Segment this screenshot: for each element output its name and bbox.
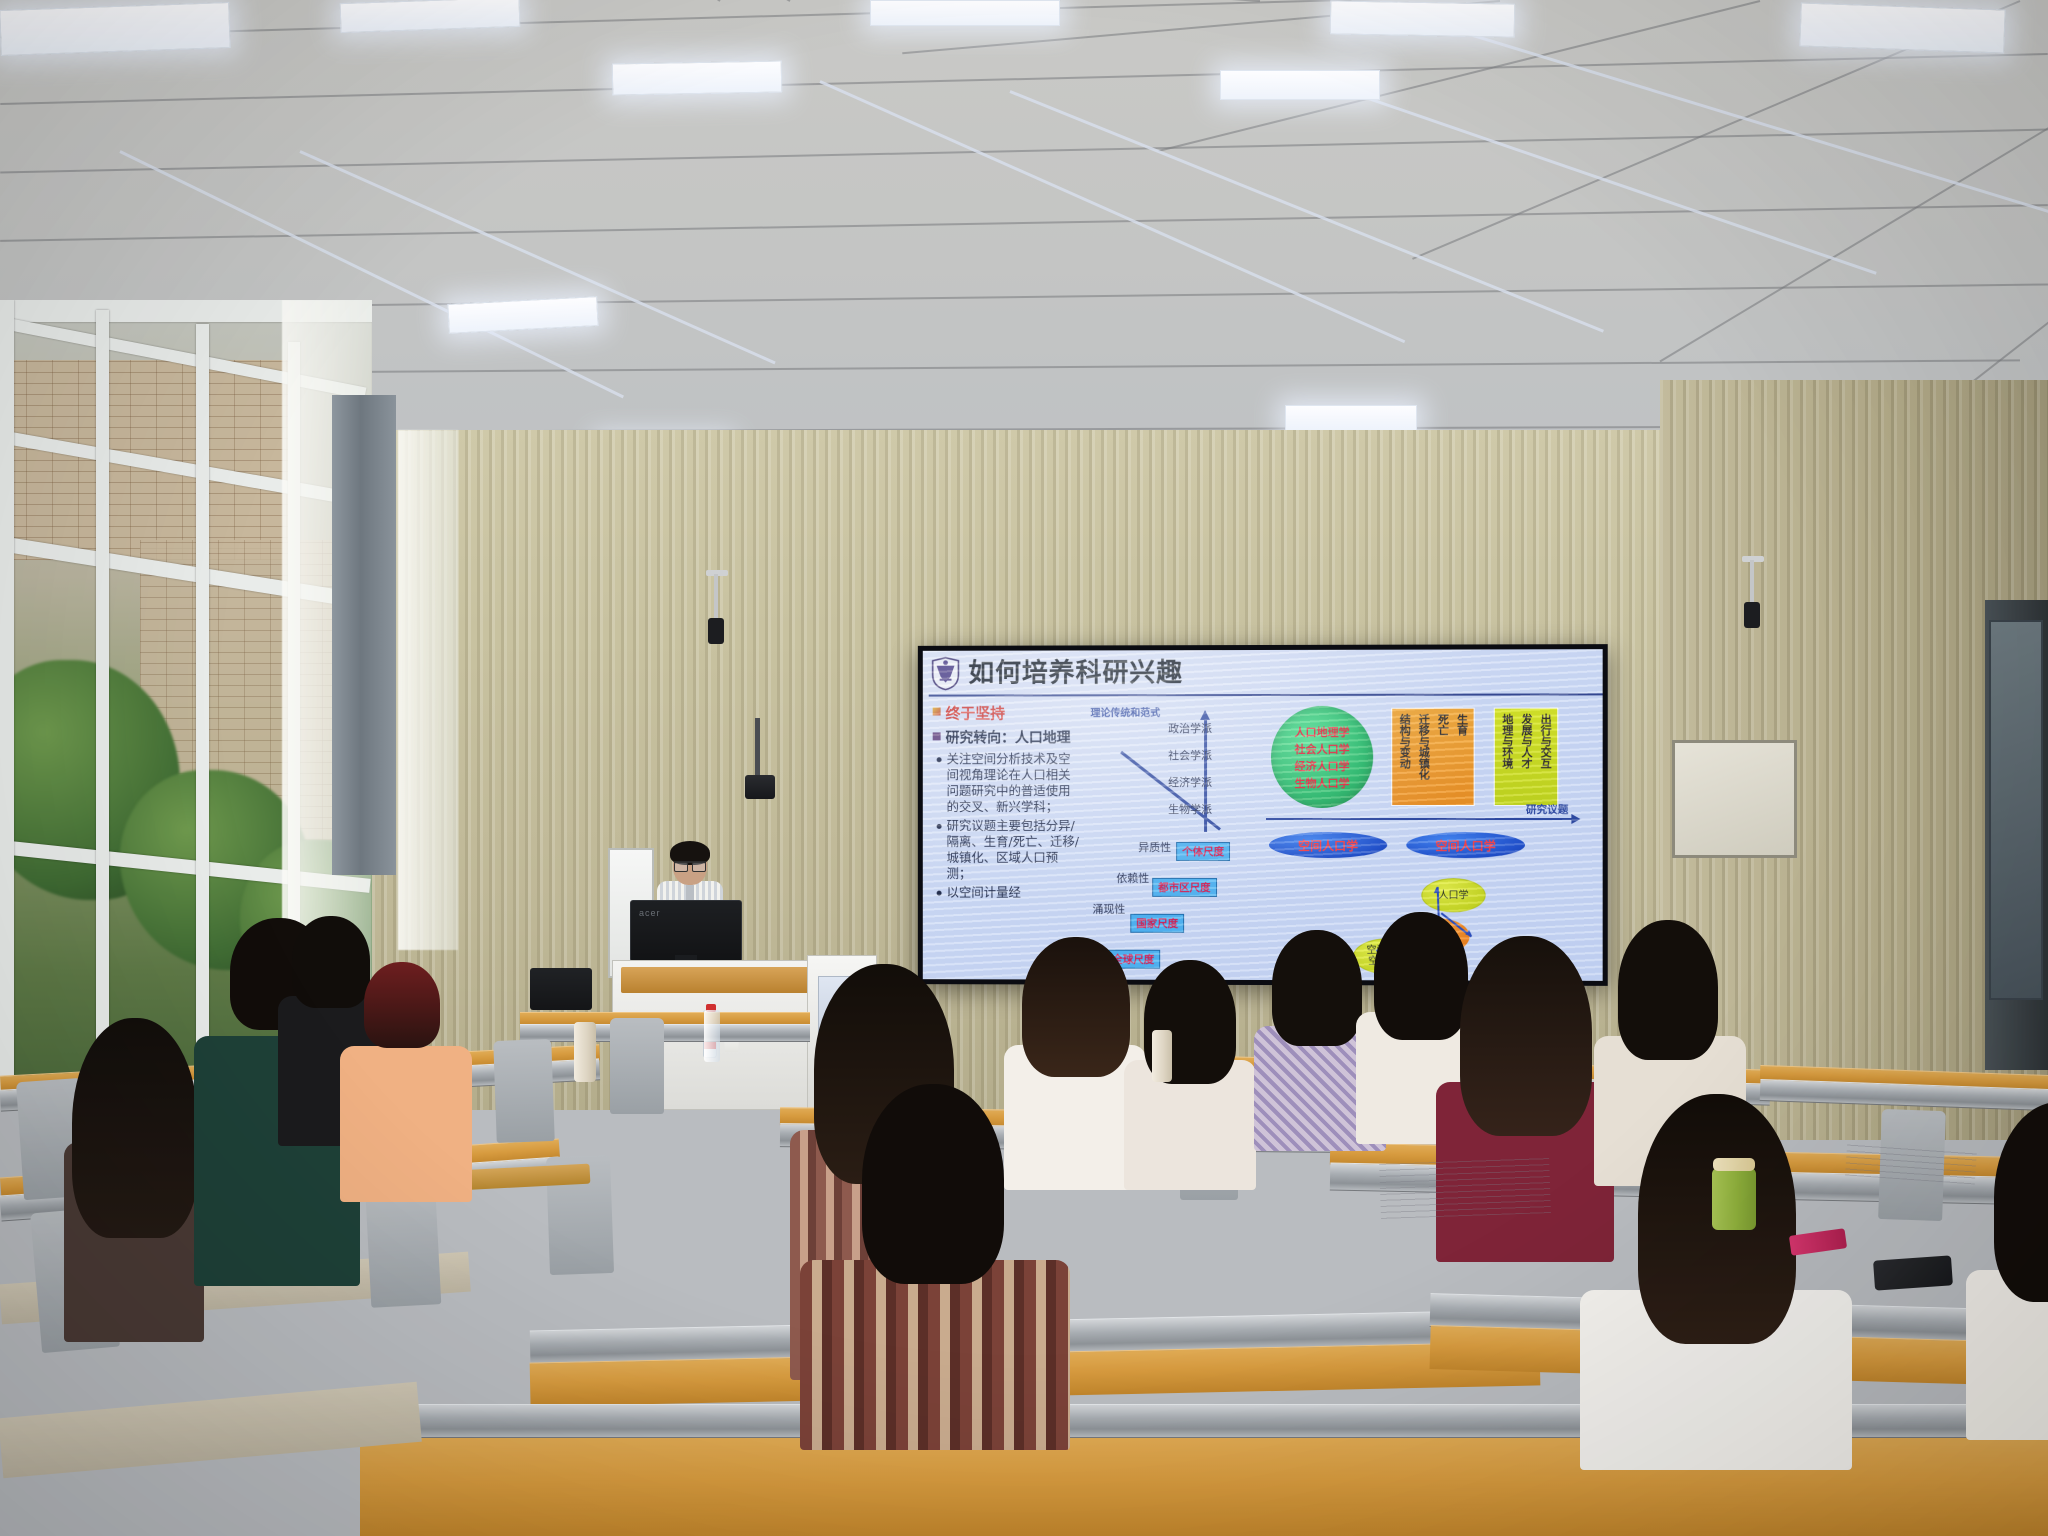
ceiling-light-panel <box>1799 2 2005 53</box>
ceiling-light-panel <box>1285 405 1417 431</box>
subfield-label: 人口地理学 <box>1295 723 1350 739</box>
scale-tag: 都市区尺度 <box>1152 878 1216 897</box>
topics-arrow <box>1266 818 1577 820</box>
bullet-label: 研究议题主要包括分异/隔离、生育/死亡、迁移/城镇化、区域人口预测； <box>947 818 1082 882</box>
bullet-item: 以空间计量经 <box>937 885 1082 901</box>
ceiling-light-panel <box>1220 70 1380 100</box>
topic-label: 出行与交互 <box>1537 714 1553 800</box>
person-torso <box>800 1260 1070 1450</box>
ceiling-speaker-right <box>1744 602 1760 628</box>
red-square-bullet-icon <box>933 708 941 716</box>
ceiling-projector <box>745 775 775 799</box>
audience-member-front <box>1570 1090 1860 1450</box>
classroom-scene: 如何培养科研兴趣 终于坚持 研究转向：人口地理 关注空间分析技术及空间视角理论在… <box>0 0 2048 1536</box>
scale-tag: 国家尺度 <box>1130 914 1184 933</box>
subfield-label: 生物人口学 <box>1295 774 1350 790</box>
topic-label: 结构与变动 <box>1396 714 1412 800</box>
bullet-label: 以空间计量经 <box>947 885 1021 901</box>
secondary-monitor[interactable] <box>530 968 592 1010</box>
bullet-item: 终于坚持 <box>933 702 1082 723</box>
slide-bullet-column: 终于坚持 研究转向：人口地理 关注空间分析技术及空间视角理论在人口相关问题研究中… <box>933 702 1082 902</box>
property-label: 异质性 <box>1138 839 1171 855</box>
purple-square-bullet-icon <box>933 732 941 740</box>
audience-member <box>336 962 476 1202</box>
notice-board[interactable] <box>1672 740 1797 858</box>
person-hair <box>862 1084 1004 1284</box>
slide-title: 如何培养科研兴趣 <box>968 652 1183 689</box>
bullet-item: 关注空间分析技术及空间视角理论在人口相关问题研究中的普适使用的交叉、新兴学科； <box>937 751 1082 815</box>
speaker-pole <box>714 574 718 620</box>
topic-label: 死亡 <box>1434 714 1450 800</box>
slide-header: 如何培养科研兴趣 <box>923 649 1603 696</box>
person-torso <box>340 1046 472 1202</box>
person-hair <box>1618 920 1718 1060</box>
bullet-label: 关注空间分析技术及空间视角理论在人口相关问题研究中的普适使用的交叉、新兴学科； <box>947 751 1082 815</box>
topic-label: 生育 <box>1454 714 1470 800</box>
ceiling-light-panel <box>612 61 783 96</box>
school-label: 政治学派 <box>1168 720 1212 736</box>
blackout-curtain[interactable] <box>332 395 396 875</box>
school-label: 经济学派 <box>1168 774 1212 790</box>
bullet-item: 研究转向：人口地理 <box>933 727 1082 747</box>
eyeglasses-icon <box>674 861 706 869</box>
yellow-topic-box: 出行与交互 发展与人才 地理与环境 <box>1494 708 1558 806</box>
school-label: 社会学派 <box>1168 747 1212 763</box>
university-crest-icon <box>931 657 961 691</box>
blue-oval-spatial-demography: 空间人口学 <box>1406 832 1525 858</box>
axis-label-right: 研究议题 <box>1526 802 1568 817</box>
paper-handout[interactable] <box>1379 1155 1551 1219</box>
chair[interactable] <box>493 1039 555 1143</box>
ceiling-light-panel <box>870 0 1060 26</box>
right-door[interactable] <box>1985 600 2048 1070</box>
person-hair <box>1994 1102 2048 1302</box>
green-tumbler[interactable] <box>1712 1168 1756 1230</box>
subfield-label: 社会人口学 <box>1295 740 1350 756</box>
scale-tag: 个体尺度 <box>1176 842 1230 861</box>
title-divider <box>929 693 1603 696</box>
dot-bullet-icon <box>937 824 942 829</box>
window-mullion <box>0 300 14 1090</box>
venn-oval-demography: 人口学 <box>1421 878 1485 912</box>
bullet-label: 终于坚持 <box>946 702 1005 723</box>
topic-label: 地理与环境 <box>1499 714 1515 800</box>
school-label: 生物学派 <box>1168 801 1212 817</box>
dot-bullet-icon <box>937 757 942 762</box>
slide-axis-diagram: 理论传统和范式 政治学派 社会学派 经济学派 生物学派 异质性 依赖性 涌现性 … <box>1086 700 1266 975</box>
ceiling-light-panel <box>0 2 231 56</box>
ceiling-light-panel <box>1330 0 1516 37</box>
projector-mount-arm <box>755 718 760 778</box>
bullet-label: 研究转向：人口地理 <box>946 727 1071 747</box>
person-hair <box>364 962 440 1048</box>
axis-label-top: 理论传统和范式 <box>1090 704 1160 719</box>
podium-monitor[interactable]: acer <box>630 900 742 962</box>
sheer-curtain[interactable] <box>398 430 458 950</box>
water-bottle-small[interactable] <box>704 1010 720 1062</box>
topic-label: 发展与人才 <box>1518 714 1534 800</box>
blue-oval-spatial-demography: 空间人口学 <box>1269 832 1387 858</box>
aisle-step <box>0 1382 422 1478</box>
tumbler-lid <box>1713 1158 1755 1171</box>
monitor-brand-label: acer <box>639 908 661 918</box>
audience-member <box>1120 960 1260 1190</box>
green-circle-subfields: 人口地理学 社会人口学 经济人口学 生物人口学 <box>1271 706 1373 808</box>
chair[interactable] <box>610 1018 664 1114</box>
bullet-item: 研究议题主要包括分异/隔离、生育/死亡、迁移/城镇化、区域人口预测； <box>937 818 1082 882</box>
orange-topic-box: 生育 死亡 迁移与城镇化 结构与变动 <box>1391 708 1474 806</box>
subfield-label: 经济人口学 <box>1295 757 1350 773</box>
ceiling-speaker-left <box>708 618 724 644</box>
person-hair <box>1272 930 1362 1046</box>
window-mullion <box>96 310 109 1090</box>
thermos[interactable] <box>1152 1030 1172 1082</box>
dot-bullet-icon <box>937 891 942 896</box>
thermos[interactable] <box>574 1022 596 1082</box>
topic-label: 迁移与城镇化 <box>1415 714 1431 800</box>
desk-rail <box>520 1024 810 1042</box>
audience-member-front <box>790 1080 1080 1440</box>
property-label: 依赖性 <box>1116 870 1149 886</box>
person-hair <box>1022 937 1130 1077</box>
black-phone[interactable] <box>1873 1255 1953 1290</box>
door-glass-panel <box>1989 620 2043 1000</box>
property-label: 涌现性 <box>1092 901 1125 917</box>
speaker-pole <box>1750 560 1754 604</box>
person-hair <box>72 1018 198 1238</box>
